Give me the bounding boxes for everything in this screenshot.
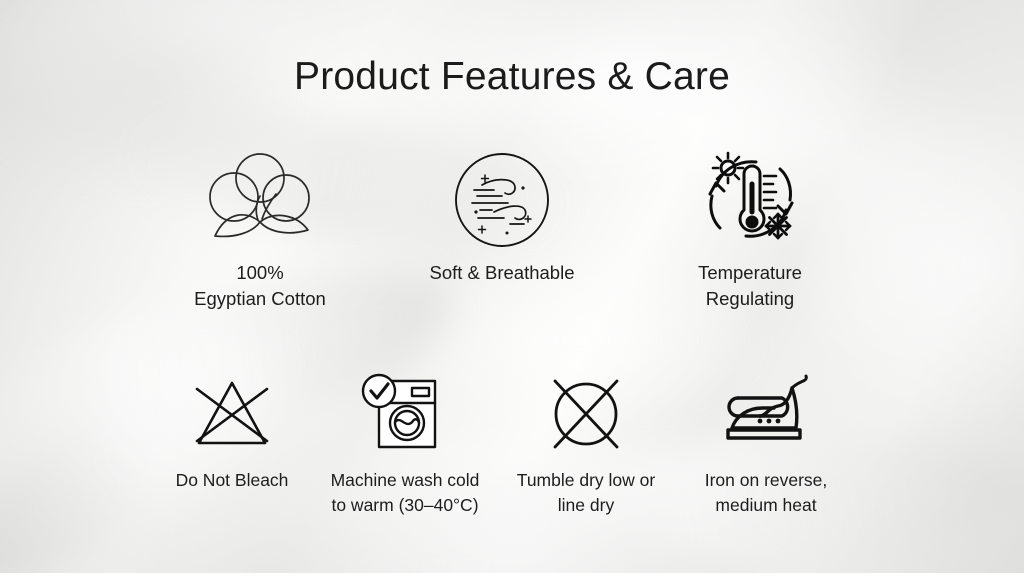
product-care-infographic: Product Features & Care 100% Egyptian Co… [0, 0, 1024, 573]
feature-caption: Soft & Breathable [412, 260, 592, 286]
feature-caption: Temperature Regulating [660, 260, 840, 312]
care-tumble-dry: Tumble dry low or line dry [500, 368, 672, 518]
page-title: Product Features & Care [0, 55, 1024, 99]
washing-machine-icon [320, 368, 490, 460]
do-not-tumble-dry-icon [500, 368, 672, 460]
do-not-bleach-icon [152, 368, 312, 460]
care-iron: Iron on reverse, medium heat [680, 368, 852, 518]
care-caption: Machine wash cold to warm (30–40°C) [320, 468, 490, 518]
cotton-boll-icon [170, 148, 350, 252]
wind-breathable-icon [412, 148, 592, 252]
feature-caption: 100% Egyptian Cotton [170, 260, 350, 312]
care-caption: Tumble dry low or line dry [500, 468, 672, 518]
iron-icon [680, 368, 852, 460]
feature-soft-breathable: Soft & Breathable [412, 148, 592, 286]
feature-temperature-regulating: Temperature Regulating [660, 148, 840, 312]
care-do-not-bleach: Do Not Bleach [152, 368, 312, 493]
thermometer-temperature-icon [660, 148, 840, 252]
care-caption: Iron on reverse, medium heat [680, 468, 852, 518]
feature-egyptian-cotton: 100% Egyptian Cotton [170, 148, 350, 312]
care-caption: Do Not Bleach [152, 468, 312, 493]
care-machine-wash: Machine wash cold to warm (30–40°C) [320, 368, 490, 518]
